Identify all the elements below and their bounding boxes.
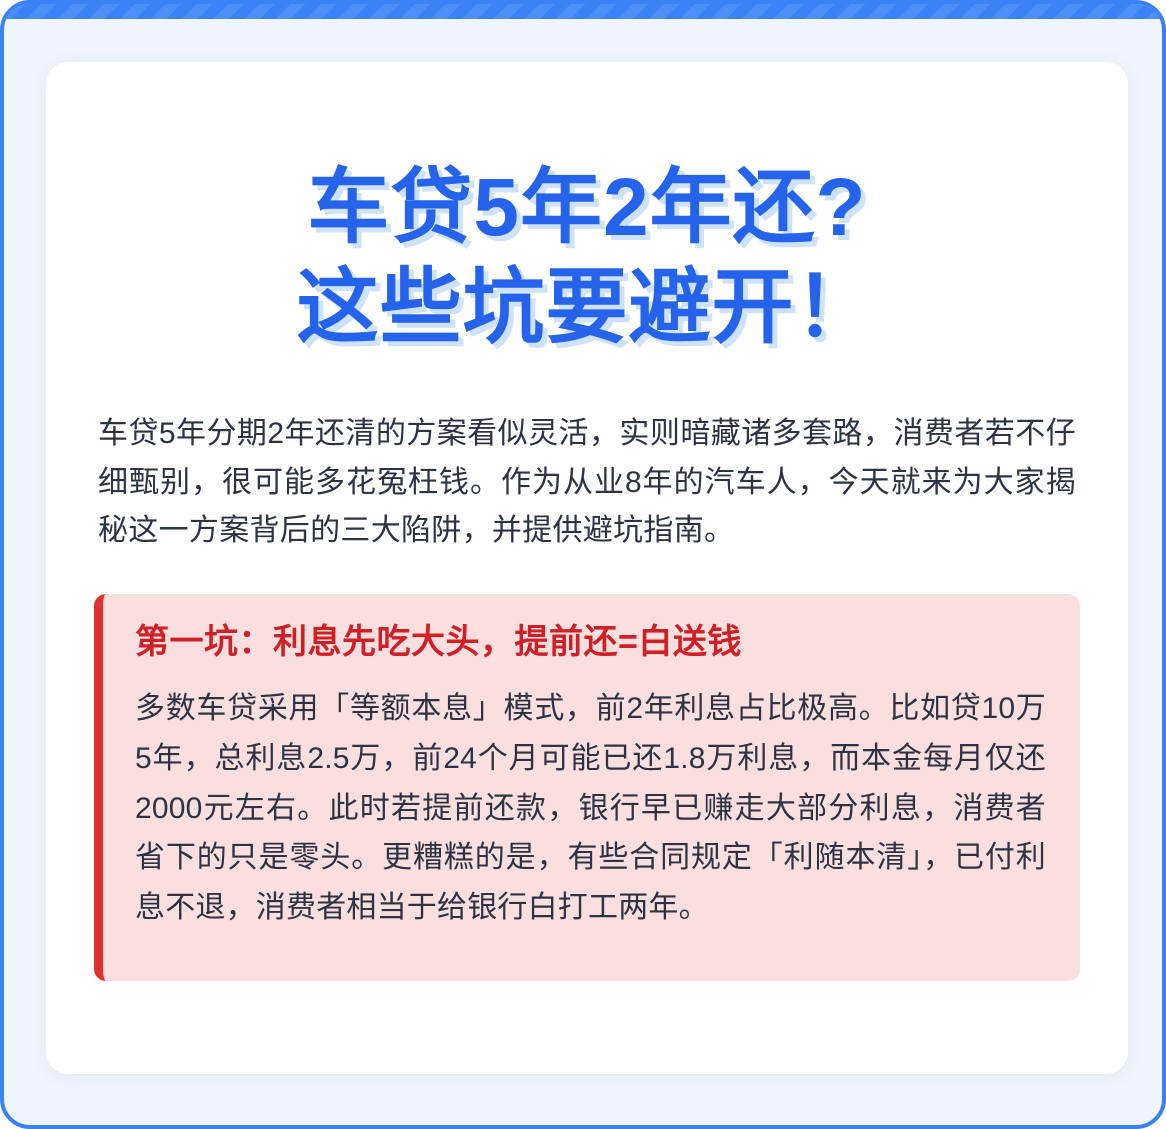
poster-frame: 车贷5年2年还? 这些坑要避开！ 车贷5年分期2年还清的方案看似灵活，实则暗藏诸… [0, 0, 1166, 1129]
pitfall-body-text: 多数车贷采用「等额本息」模式，前2年利息占比极高。比如贷10万5年，总利息2.5… [135, 684, 1046, 933]
decorative-stripe-bar [4, 4, 1162, 19]
pitfall-heading: 第一坑：利息先吃大头，提前还=白送钱 [135, 620, 1046, 664]
page-title-line-2: 这些坑要避开！ [94, 258, 1080, 358]
content-sheet: 车贷5年2年还? 这些坑要避开！ 车贷5年分期2年还清的方案看似灵活，实则暗藏诸… [46, 62, 1128, 1074]
pitfall-callout: 第一坑：利息先吃大头，提前还=白送钱 多数车贷采用「等额本息」模式，前2年利息占… [94, 594, 1080, 981]
intro-paragraph: 车贷5年分期2年还清的方案看似灵活，实则暗藏诸多套路，消费者若不仔细甄别，很可能… [94, 410, 1080, 556]
page-title: 车贷5年2年还? 这些坑要避开！ [94, 62, 1080, 358]
page-title-line-1: 车贷5年2年还? [94, 158, 1080, 258]
